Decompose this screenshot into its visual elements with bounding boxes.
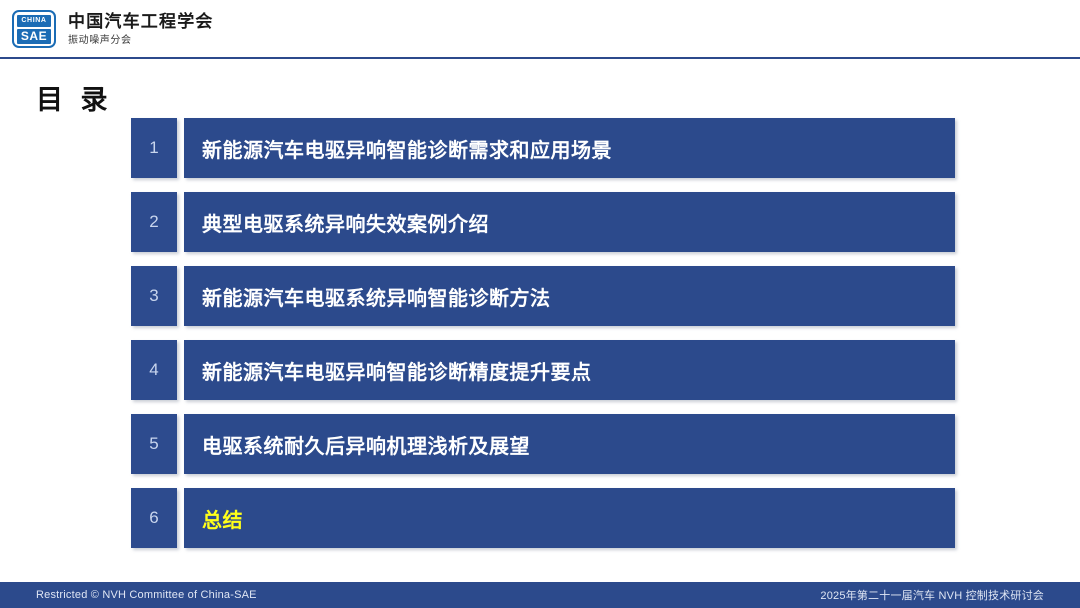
logo-china-text: CHINA [17,15,51,27]
toc-item-label: 总结 [202,504,243,533]
organization-subtitle: 振动噪声分会 [68,35,214,46]
toc-item[interactable]: 1 新能源汽车电驱异响智能诊断需求和应用场景 [131,118,955,178]
toc-item-bar[interactable]: 总结 [184,488,955,548]
toc-item-number: 5 [131,414,177,474]
toc-item-number: 3 [131,266,177,326]
footer-event-name: 2025年第二十一届汽车 NVH 控制技术研讨会 [820,587,1080,603]
footer-copyright: Restricted © NVH Committee of China-SAE [0,589,257,601]
page-title: 目 录 [36,78,113,117]
organization-name: 中国汽车工程学会 [68,12,214,32]
toc-item-number: 6 [131,488,177,548]
toc-item-label: 典型电驱系统异响失效案例介绍 [202,208,489,237]
toc-item[interactable]: 3 新能源汽车电驱系统异响智能诊断方法 [131,266,955,326]
toc-item-bar[interactable]: 电驱系统耐久后异响机理浅析及展望 [184,414,955,474]
slide-header: CHINA SAE 中国汽车工程学会 振动噪声分会 [0,0,1080,58]
toc-item[interactable]: 6 总结 [131,488,955,548]
toc-item-bar[interactable]: 新能源汽车电驱异响智能诊断需求和应用场景 [184,118,955,178]
slide-root: CHINA SAE 中国汽车工程学会 振动噪声分会 目 录 1 新能源汽车电驱异… [0,0,1080,608]
toc-item-label: 新能源汽车电驱系统异响智能诊断方法 [202,282,551,311]
toc-item-bar[interactable]: 典型电驱系统异响失效案例介绍 [184,192,955,252]
toc-item[interactable]: 2 典型电驱系统异响失效案例介绍 [131,192,955,252]
logo-sae-text: SAE [17,29,51,44]
toc-item-number: 2 [131,192,177,252]
toc-item[interactable]: 5 电驱系统耐久后异响机理浅析及展望 [131,414,955,474]
organization-block: 中国汽车工程学会 振动噪声分会 [68,12,214,46]
toc-item-number: 4 [131,340,177,400]
toc-item-bar[interactable]: 新能源汽车电驱异响智能诊断精度提升要点 [184,340,955,400]
toc-item-label: 新能源汽车电驱异响智能诊断精度提升要点 [202,356,592,385]
toc-item-bar[interactable]: 新能源汽车电驱系统异响智能诊断方法 [184,266,955,326]
slide-footer: Restricted © NVH Committee of China-SAE … [0,582,1080,608]
table-of-contents: 1 新能源汽车电驱异响智能诊断需求和应用场景 2 典型电驱系统异响失效案例介绍 … [131,118,955,562]
header-divider [0,57,1080,59]
china-sae-logo-icon: CHINA SAE [12,10,56,48]
toc-item-number: 1 [131,118,177,178]
toc-item-label: 电驱系统耐久后异响机理浅析及展望 [202,430,530,459]
toc-item-label: 新能源汽车电驱异响智能诊断需求和应用场景 [202,134,612,163]
toc-item[interactable]: 4 新能源汽车电驱异响智能诊断精度提升要点 [131,340,955,400]
